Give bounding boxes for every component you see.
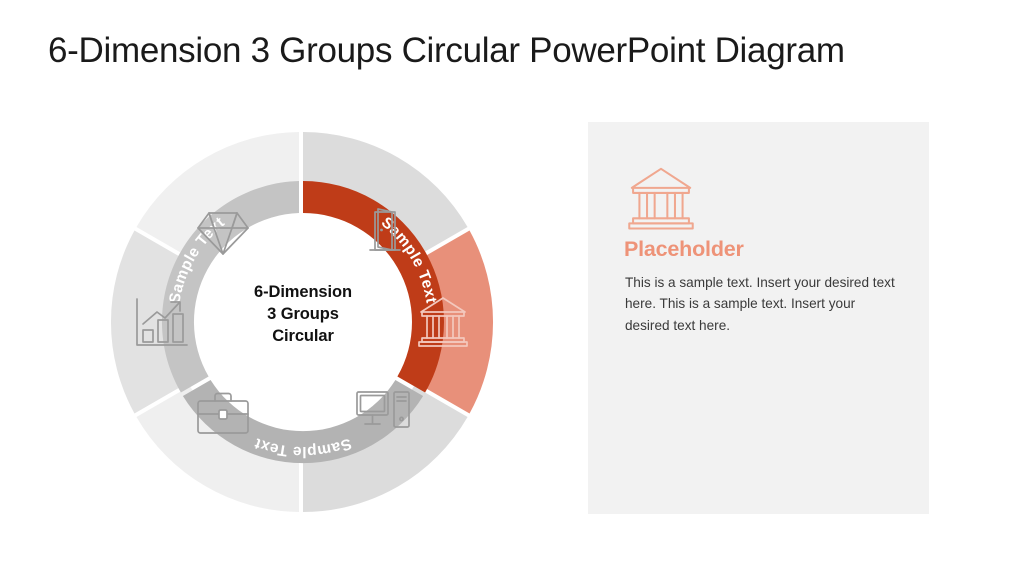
circular-diagram: Sample Text Sample Text Sample Text [103, 122, 503, 522]
center-line-1: 6-Dimension [231, 282, 375, 304]
bank-icon [624, 165, 698, 231]
detail-panel: Placeholder This is a sample text. Inser… [588, 122, 929, 514]
panel-body-text: This is a sample text. Insert your desir… [625, 272, 901, 336]
center-line-2: 3 Groups [231, 304, 375, 326]
slide-canvas: 6-Dimension 3 Groups Circular PowerPoint… [0, 0, 1024, 576]
page-title: 6-Dimension 3 Groups Circular PowerPoint… [48, 30, 968, 72]
center-line-3: Circular [231, 326, 375, 348]
center-label: 6-Dimension 3 Groups Circular [231, 282, 375, 348]
panel-heading: Placeholder [624, 237, 744, 262]
